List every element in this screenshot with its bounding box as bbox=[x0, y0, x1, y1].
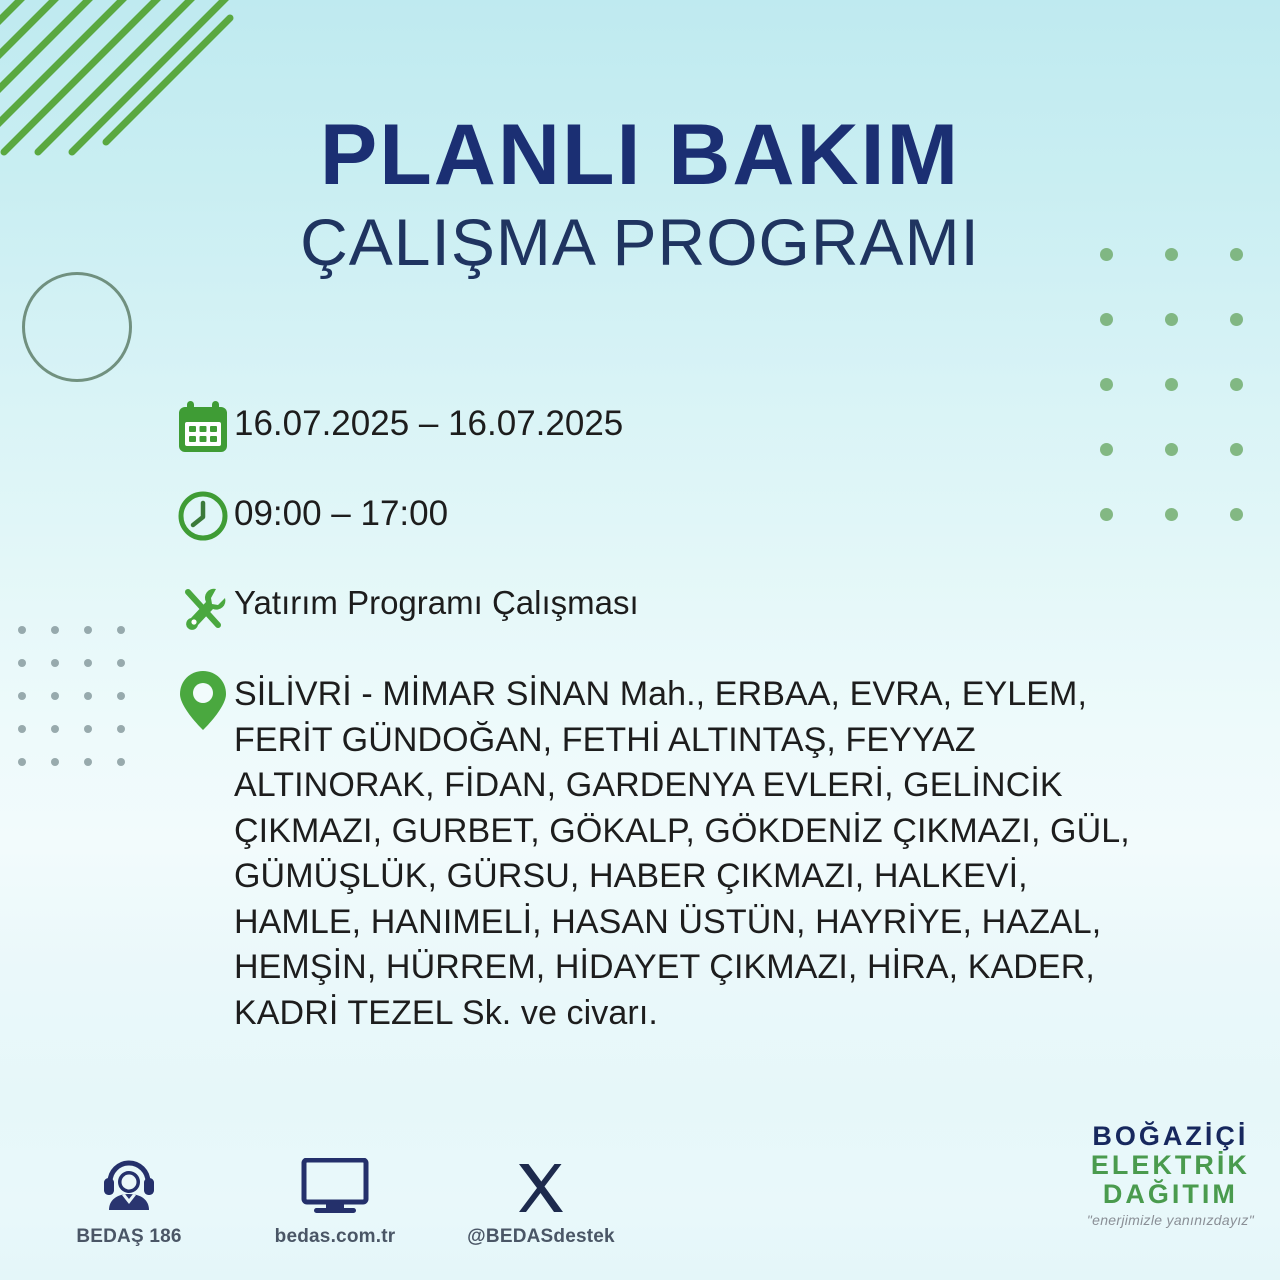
brand-tagline: "enerjimizle yanınızdayız" bbox=[1087, 1213, 1254, 1228]
location-line: FERİT GÜNDOĞAN, FETHİ ALTINTAŞ, FEYYAZ bbox=[234, 718, 1252, 764]
info-row-location: SİLİVRİ - MİMAR SİNAN Mah., ERBAA, EVRA,… bbox=[172, 668, 1252, 1036]
contact-website-label: bedas.com.tr bbox=[260, 1226, 410, 1248]
poster-footer: BEDAŞ 186 bedas.com.tr bbox=[0, 1126, 1280, 1256]
contact-channels: BEDAŞ 186 bedas.com.tr bbox=[54, 1154, 616, 1248]
poster-header: PLANLI BAKIM ÇALIŞMA PROGRAMI bbox=[0, 112, 1280, 280]
work-type-text: Yatırım Programı Çalışması bbox=[234, 578, 1252, 624]
page-title: PLANLI BAKIM bbox=[0, 112, 1280, 200]
contact-website[interactable]: bedas.com.tr bbox=[260, 1154, 410, 1248]
location-text: SİLİVRİ - MİMAR SİNAN Mah., ERBAA, EVRA,… bbox=[234, 668, 1252, 1036]
location-line: ÇIKMAZI, GURBET, GÖKALP, GÖKDENİZ ÇIKMAZ… bbox=[234, 809, 1252, 855]
page-subtitle: ÇALIŞMA PROGRAMI bbox=[0, 206, 1280, 280]
brand-line-bogazici: BOĞAZİÇİ bbox=[1087, 1122, 1254, 1151]
dot-grid-left-decoration bbox=[18, 626, 150, 791]
contact-twitter-label: @BEDASdestek bbox=[466, 1226, 616, 1248]
brand-line-elektrik: ELEKTRİK bbox=[1087, 1151, 1254, 1180]
contact-twitter[interactable]: @BEDASdestek bbox=[466, 1154, 616, 1248]
circle-outline-decoration bbox=[22, 272, 132, 382]
location-line: HAMLE, HANIMELİ, HASAN ÜSTÜN, HAYRİYE, H… bbox=[234, 900, 1252, 946]
info-row-work-type: Yatırım Programı Çalışması bbox=[172, 578, 1252, 646]
tools-icon bbox=[172, 578, 234, 646]
brand-logo: BOĞAZİÇİ ELEKTRİK DAĞITIM "enerjimizle y… bbox=[1087, 1122, 1254, 1228]
poster-canvas: PLANLI BAKIM ÇALIŞMA PROGRAMI bbox=[0, 0, 1280, 1280]
info-block: 16.07.2025 – 16.07.2025 09:00 – 17:00 bbox=[172, 398, 1252, 1058]
calendar-icon bbox=[172, 398, 234, 466]
location-line: GÜMÜŞLÜK, GÜRSU, HABER ÇIKMAZI, HALKEVİ, bbox=[234, 854, 1252, 900]
contact-phone-label: BEDAŞ 186 bbox=[54, 1226, 204, 1248]
headset-support-icon bbox=[54, 1154, 204, 1216]
location-line: KADRİ TEZEL Sk. ve civarı. bbox=[234, 991, 1252, 1037]
contact-phone[interactable]: BEDAŞ 186 bbox=[54, 1154, 204, 1248]
brand-line-dagitim: DAĞITIM bbox=[1087, 1180, 1254, 1209]
location-pin-icon bbox=[172, 668, 234, 736]
time-range-text: 09:00 – 17:00 bbox=[234, 488, 1252, 537]
info-row-date: 16.07.2025 – 16.07.2025 bbox=[172, 398, 1252, 466]
clock-icon bbox=[172, 488, 234, 556]
location-line: SİLİVRİ - MİMAR SİNAN Mah., ERBAA, EVRA,… bbox=[234, 672, 1252, 718]
monitor-icon bbox=[260, 1154, 410, 1216]
info-row-time: 09:00 – 17:00 bbox=[172, 488, 1252, 556]
location-line: ALTINORAK, FİDAN, GARDENYA EVLERİ, GELİN… bbox=[234, 763, 1252, 809]
location-line: HEMŞİN, HÜRREM, HİDAYET ÇIKMAZI, HİRA, K… bbox=[234, 945, 1252, 991]
x-twitter-icon bbox=[466, 1154, 616, 1216]
date-range-text: 16.07.2025 – 16.07.2025 bbox=[234, 398, 1252, 447]
